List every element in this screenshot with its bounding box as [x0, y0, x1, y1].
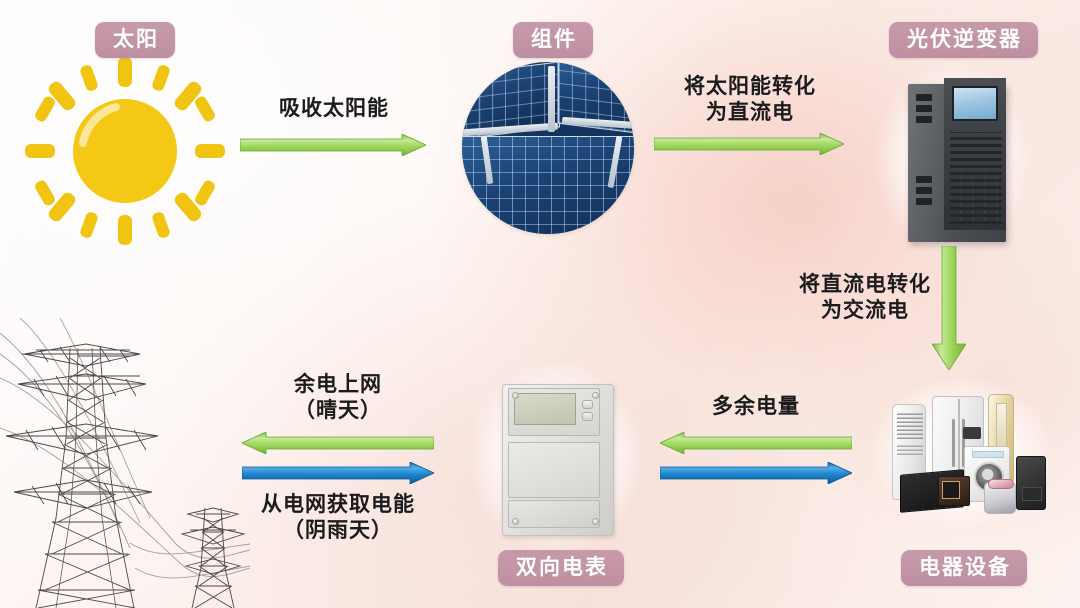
flow-label-draw-from-grid: 从电网获取电能 （阴雨天）: [232, 492, 444, 545]
badge-sun[interactable]: 太阳: [95, 22, 175, 58]
solar-panel-photo: [462, 62, 634, 234]
flow-label-dc-to-ac: 将直流电转化 为交流电: [790, 272, 940, 325]
badge-inverter[interactable]: 光伏逆变器: [889, 22, 1038, 58]
home-appliances-photo: [886, 390, 1051, 520]
flow-label-solar-to-dc: 将太阳能转化 为直流电: [650, 74, 850, 127]
arrow-feed-in: [242, 432, 434, 459]
badge-meter[interactable]: 双向电表: [498, 550, 624, 586]
arrow-grid-supply-right: [660, 462, 852, 489]
flow-label-excess-power: 多余电量: [658, 394, 854, 420]
arrow-solar-to-dc: [654, 133, 844, 160]
pv-inverter-photo: [886, 72, 1026, 250]
flow-label-feed-in: 余电上网 （晴天）: [242, 372, 434, 425]
badge-module[interactable]: 组件: [513, 22, 593, 58]
badge-appliances[interactable]: 电器设备: [901, 550, 1027, 586]
sun-icon: [20, 55, 230, 250]
arrow-absorb-solar: [240, 134, 426, 161]
arrow-draw-from-grid: [242, 462, 434, 489]
arrow-excess-power: [660, 432, 852, 459]
transmission-tower-illustration: [0, 318, 250, 608]
flow-label-absorb-solar: 吸收太阳能: [240, 96, 428, 122]
bidirectional-meter-photo: [496, 378, 626, 548]
